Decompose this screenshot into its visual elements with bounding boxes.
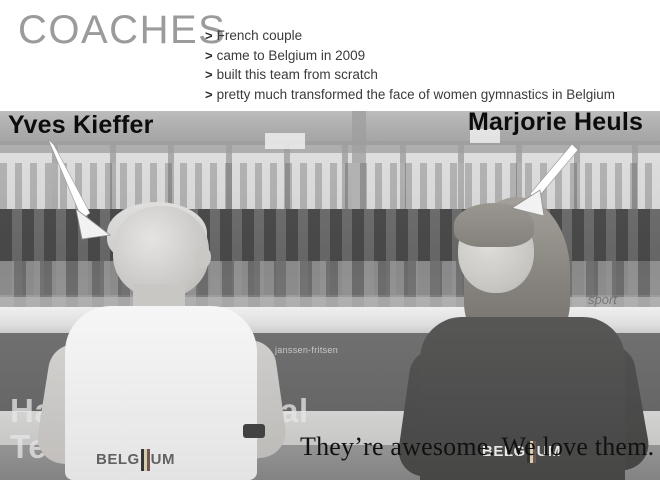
slide-caption: They’re awesome. We love them. bbox=[300, 432, 654, 462]
list-item: >pretty much transformed the face of wom… bbox=[205, 85, 660, 105]
bullet-marker-icon: > bbox=[205, 48, 213, 63]
list-item: >French couple bbox=[205, 26, 660, 46]
bullet-text: built this team from scratch bbox=[217, 67, 378, 82]
sponsor-board-text: janssen-fritsen bbox=[275, 345, 338, 355]
shirt-logo-part-1: BELG bbox=[96, 451, 140, 468]
bottom-margin bbox=[0, 480, 660, 495]
coach-left-name-label: Yves Kieffer bbox=[8, 111, 154, 140]
coach-left-figure bbox=[55, 206, 270, 480]
list-item: >built this team from scratch bbox=[205, 65, 660, 85]
bullet-marker-icon: > bbox=[205, 87, 213, 102]
coach-right-name-label: Marjorie Heuls bbox=[468, 108, 643, 137]
arena-beam bbox=[0, 141, 660, 153]
shirt-logo-part-2: UM bbox=[151, 451, 175, 468]
list-item: >came to Belgium in 2009 bbox=[205, 46, 660, 66]
bullet-text: came to Belgium in 2009 bbox=[217, 48, 366, 63]
slide-header: COACHES >French couple >came to Belgium … bbox=[0, 0, 660, 111]
coaches-photo: janssen-fritsen sport Hand International… bbox=[0, 111, 660, 480]
coach-left-ear bbox=[195, 246, 211, 268]
hanging-sign bbox=[265, 133, 305, 149]
shirt-belgium-logo: BELG UM bbox=[96, 451, 175, 468]
bullet-text: French couple bbox=[217, 28, 303, 43]
presentation-slide: COACHES >French couple >came to Belgium … bbox=[0, 0, 660, 495]
page-title: COACHES bbox=[18, 8, 226, 52]
bullet-marker-icon: > bbox=[205, 28, 213, 43]
bullet-list: >French couple >came to Belgium in 2009 … bbox=[205, 26, 660, 104]
belgian-flag-icon bbox=[141, 449, 150, 471]
coach-right-hair-front bbox=[454, 203, 534, 247]
coach-left-wristwatch bbox=[243, 424, 265, 438]
bullet-text: pretty much transformed the face of wome… bbox=[217, 87, 615, 102]
bullet-marker-icon: > bbox=[205, 67, 213, 82]
